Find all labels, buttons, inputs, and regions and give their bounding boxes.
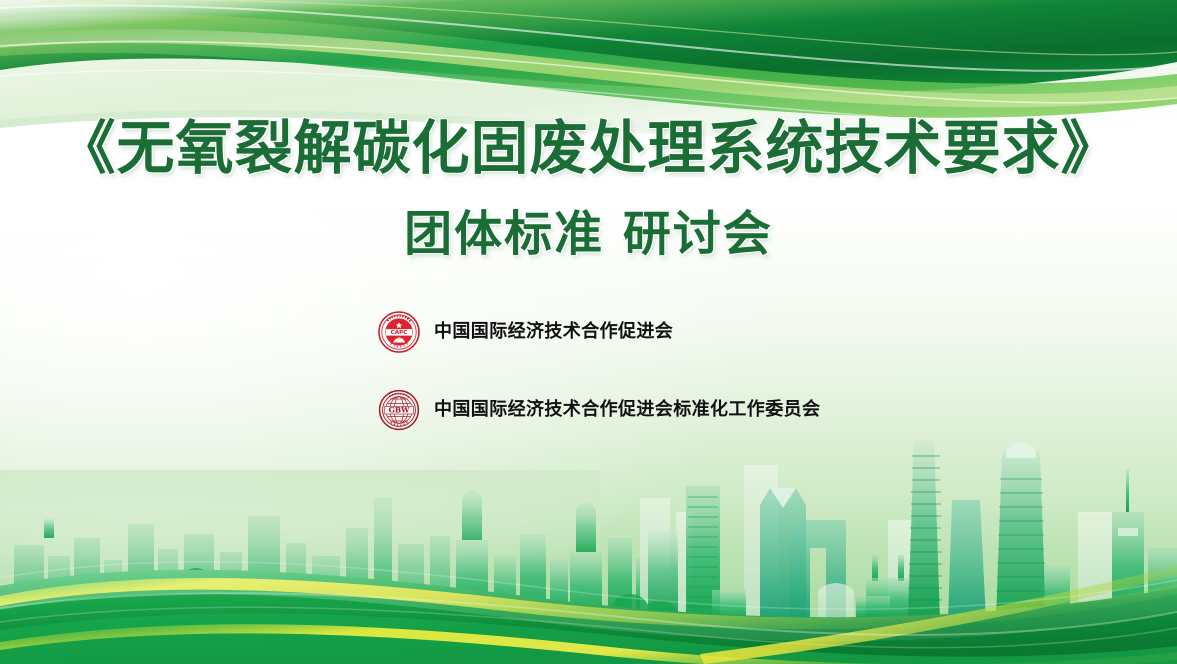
organization-name: 中国国际经济技术合作促进会标准化工作委员会 [434, 399, 820, 421]
capc-seal-icon: CAPC [378, 311, 420, 353]
presentation-slide: 《无氧裂解碳化固废处理系统技术要求》 团体标准 研讨会 [0, 0, 1177, 664]
page-subtitle: 团体标准 研讨会 [0, 204, 1177, 264]
gbw-seal-icon: GBW [378, 389, 420, 431]
organization-row: CAPC 中国国际经济技术合作促进会 [378, 311, 673, 353]
organization-row: GBW 中国国际经济技术合作促进会标准化工作委员会 [378, 389, 820, 431]
slide-content: 《无氧裂解碳化固废处理系统技术要求》 团体标准 研讨会 [0, 0, 1177, 664]
svg-text:CAPC: CAPC [391, 330, 408, 336]
svg-text:GBW: GBW [389, 405, 411, 414]
page-title: 《无氧裂解碳化固废处理系统技术要求》 [0, 113, 1177, 183]
organization-name: 中国国际经济技术合作促进会 [434, 321, 673, 343]
